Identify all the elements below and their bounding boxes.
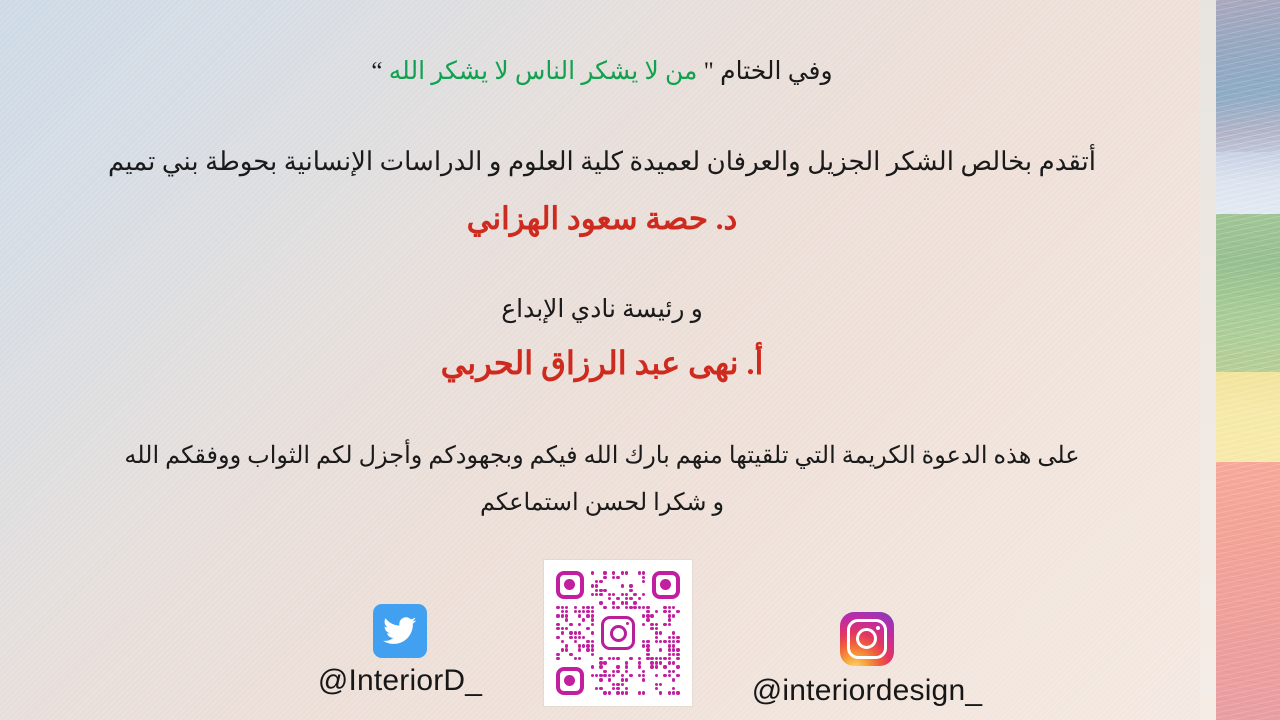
qr-module (603, 576, 606, 579)
qr-module (625, 601, 628, 604)
qr-module (574, 631, 577, 634)
qr-module (561, 627, 564, 630)
qr-module (676, 653, 679, 656)
qr-module (668, 657, 671, 660)
qr-module (608, 678, 611, 681)
qr-module (595, 687, 598, 690)
qr-module (676, 610, 679, 613)
qr-module (642, 640, 645, 643)
dean-name: د. حصة سعود الهزاني (0, 198, 1204, 240)
qr-module (556, 623, 559, 626)
qr-module (663, 623, 666, 626)
qr-module (591, 571, 594, 574)
qr-module (655, 687, 658, 690)
qr-module (659, 691, 662, 694)
qr-module (621, 678, 624, 681)
instagram-flash-dot (626, 622, 629, 625)
qr-module (642, 576, 645, 579)
qr-module (642, 670, 645, 673)
qr-module (565, 648, 568, 651)
qr-module (578, 636, 581, 639)
paint-streaks (1216, 152, 1280, 218)
strip-band-green (1216, 214, 1280, 376)
instagram-camera-icon[interactable] (840, 612, 894, 666)
qr-module (603, 606, 606, 609)
instagram-flash-dot (876, 626, 880, 630)
qr-module (676, 648, 679, 651)
qr-module (574, 657, 577, 660)
qr-module (633, 593, 636, 596)
qr-module (625, 691, 628, 694)
qr-module (608, 691, 611, 694)
qr-module (621, 674, 624, 677)
qr-module (612, 571, 615, 574)
qr-module (569, 623, 572, 626)
qr-module (591, 610, 594, 613)
qr-module (616, 691, 619, 694)
qr-module (672, 636, 675, 639)
qr-module (591, 593, 594, 596)
qr-module (663, 610, 666, 613)
qr-module (595, 580, 598, 583)
qr-module (561, 631, 564, 634)
qr-module (638, 657, 641, 660)
qr-module (676, 636, 679, 639)
qr-module (582, 610, 585, 613)
qr-module (586, 627, 589, 630)
qr-module (642, 644, 645, 647)
qr-module (655, 661, 658, 664)
qr-finder-top-right (652, 571, 680, 599)
qr-module (625, 606, 628, 609)
qr-module (603, 670, 606, 673)
qr-module (650, 665, 653, 668)
qr-module (574, 610, 577, 613)
qr-module (668, 606, 671, 609)
qr-module (595, 674, 598, 677)
qr-module (578, 631, 581, 634)
qr-module (642, 691, 645, 694)
qr-module (591, 623, 594, 626)
qr-module (638, 674, 641, 677)
qr-module (569, 653, 572, 656)
qr-module (655, 636, 658, 639)
qr-module (638, 571, 641, 574)
instagram-outline (847, 619, 887, 659)
qr-module (591, 618, 594, 621)
qr-module (642, 571, 645, 574)
qr-module (668, 610, 671, 613)
qr-module (646, 614, 649, 617)
qr-module (650, 657, 653, 660)
qr-module (586, 614, 589, 617)
qr-module (646, 653, 649, 656)
qr-module (659, 683, 662, 686)
qr-module (608, 597, 611, 600)
qr-module (591, 674, 594, 677)
qr-module (616, 670, 619, 673)
twitter-link[interactable]: @InteriorD_ (300, 604, 500, 698)
qr-module (556, 627, 559, 630)
qr-module (655, 610, 658, 613)
qr-module (650, 623, 653, 626)
qr-module (608, 674, 611, 677)
qr-module (591, 631, 594, 634)
qr-module (642, 623, 645, 626)
qr-module (672, 678, 675, 681)
qr-module (646, 610, 649, 613)
qr-module (672, 614, 675, 617)
qr-module (650, 614, 653, 617)
closing-suffix-text: “ (371, 58, 388, 85)
qr-module (565, 614, 568, 617)
qr-module (591, 584, 594, 587)
qr-module (599, 687, 602, 690)
qr-module (582, 644, 585, 647)
strip-band-red (1216, 462, 1280, 720)
qr-module (663, 665, 666, 668)
qr-module (655, 683, 658, 686)
qr-module (612, 670, 615, 673)
qr-module (638, 597, 641, 600)
qr-module (646, 648, 649, 651)
qr-module (625, 661, 628, 664)
qr-module (561, 606, 564, 609)
qr-module (586, 606, 589, 609)
qr-finder-top-left (556, 571, 584, 599)
qr-module (612, 606, 615, 609)
qr-module (642, 678, 645, 681)
qr-module (638, 665, 641, 668)
qr-module (676, 691, 679, 694)
strip-band-yellow (1216, 372, 1280, 466)
qr-module (676, 665, 679, 668)
paint-streaks (1216, 0, 1280, 160)
qr-module (672, 687, 675, 690)
qr-module (663, 606, 666, 609)
qr-module (569, 636, 572, 639)
qr-module (591, 606, 594, 609)
qr-module (612, 683, 615, 686)
qr-module (595, 593, 598, 596)
qr-module (655, 640, 658, 643)
qr-module (599, 589, 602, 592)
qr-module (565, 610, 568, 613)
qr-module (655, 674, 658, 677)
qr-module (612, 593, 615, 596)
qr-module (650, 661, 653, 664)
qr-finder-bottom-left (556, 667, 584, 695)
qr-module (565, 627, 568, 630)
presentation-slide: وفي الختام " من لا يشكر الناس لا يشكر ال… (0, 0, 1280, 720)
thanks-for-listening-line: و شكرا لحسن استماعكم (0, 487, 1204, 519)
qr-module (629, 674, 632, 677)
qr-module (603, 589, 606, 592)
qr-module (668, 691, 671, 694)
qr-module (655, 665, 658, 668)
qr-module (586, 640, 589, 643)
qr-module (616, 657, 619, 660)
qr-module (638, 606, 641, 609)
qr-module (612, 657, 615, 660)
qr-module (629, 589, 632, 592)
qr-module (591, 653, 594, 656)
qr-module (565, 618, 568, 621)
qr-module (625, 597, 628, 600)
qr-module (578, 623, 581, 626)
qr-module (616, 576, 619, 579)
qr-module (591, 665, 594, 668)
qr-module (621, 691, 624, 694)
qr-module (668, 644, 671, 647)
qr-module (599, 678, 602, 681)
qr-module (616, 683, 619, 686)
decorative-color-strip (1216, 0, 1280, 720)
qr-module (556, 653, 559, 656)
qr-module (569, 631, 572, 634)
qr-module (668, 670, 671, 673)
qr-module (612, 687, 615, 690)
gratitude-line: أتقدم بخالص الشكر الجزيل والعرفان لعميدة… (30, 144, 1174, 179)
qr-module (633, 606, 636, 609)
qr-module (603, 661, 606, 664)
qr-module (625, 670, 628, 673)
qr-module (586, 648, 589, 651)
qr-module (650, 627, 653, 630)
qr-module (586, 610, 589, 613)
qr-module (616, 606, 619, 609)
club-role-line: و رئيسة نادي الإبداع (0, 293, 1204, 327)
qr-module (599, 601, 602, 604)
qr-module (561, 640, 564, 643)
qr-module (672, 648, 675, 651)
instagram-camera-icon (601, 616, 635, 650)
qr-module (663, 657, 666, 660)
qr-module (621, 584, 624, 587)
qr-module (608, 593, 611, 596)
qr-module (642, 614, 645, 617)
qr-module (621, 601, 624, 604)
qr-module (603, 691, 606, 694)
qr-module (556, 614, 559, 617)
qr-module (668, 674, 671, 677)
qr-module (612, 576, 615, 579)
invitation-body-line: على هذه الدعوة الكريمة التي تلقيتها منهم… (30, 440, 1174, 472)
qr-module (629, 606, 632, 609)
qr-module (565, 606, 568, 609)
qr-module (616, 597, 619, 600)
qr-module (638, 661, 641, 664)
qr-module (565, 644, 568, 647)
qr-module (668, 653, 671, 656)
qr-module (633, 601, 636, 604)
qr-module (608, 657, 611, 660)
qr-module (582, 606, 585, 609)
qr-module (591, 640, 594, 643)
qr-module (642, 580, 645, 583)
qr-module (659, 640, 662, 643)
qr-module (574, 640, 577, 643)
qr-module (556, 636, 559, 639)
qr-module (672, 670, 675, 673)
qr-module (625, 593, 628, 596)
qr-module (655, 657, 658, 660)
qr-module (672, 653, 675, 656)
qr-module (646, 644, 649, 647)
qr-module (625, 678, 628, 681)
qr-module (668, 636, 671, 639)
qr-code-matrix[interactable] (556, 571, 680, 695)
qr-module (629, 584, 632, 587)
qr-module (668, 661, 671, 664)
qr-module (574, 636, 577, 639)
qr-module (676, 674, 679, 677)
qr-module (672, 606, 675, 609)
qr-module (668, 648, 671, 651)
qr-module (599, 661, 602, 664)
qr-module (625, 571, 628, 574)
qr-module (672, 640, 675, 643)
qr-module (591, 614, 594, 617)
qr-module (672, 631, 675, 634)
qr-module (642, 606, 645, 609)
qr-module (642, 674, 645, 677)
qr-module (642, 593, 645, 596)
qr-module (676, 640, 679, 643)
qr-module (638, 691, 641, 694)
qr-module (591, 648, 594, 651)
qr-module (659, 648, 662, 651)
qr-module (668, 623, 671, 626)
qr-module (646, 618, 649, 621)
closing-quote-line: وفي الختام " من لا يشكر الناس لا يشكر ال… (0, 55, 1204, 89)
qr-module (616, 665, 619, 668)
qr-module (599, 674, 602, 677)
club-head-name: أ. نهى عبد الرزاق الحربي (0, 342, 1204, 385)
qr-module (676, 657, 679, 660)
qr-module (668, 614, 671, 617)
paint-streaks (1216, 214, 1280, 376)
qr-module (595, 584, 598, 587)
qr-module (612, 674, 615, 677)
qr-module (621, 571, 624, 574)
qr-module (599, 657, 602, 660)
qr-module (586, 644, 589, 647)
instagram-lens (856, 628, 877, 649)
qr-module (629, 657, 632, 660)
qr-module (578, 610, 581, 613)
qr-module (561, 648, 564, 651)
qr-module (668, 640, 671, 643)
paint-streaks (1216, 372, 1280, 466)
qr-module (663, 674, 666, 677)
qr-module (578, 648, 581, 651)
qr-module (655, 627, 658, 630)
qr-module (672, 661, 675, 664)
strip-band-sky-blue (1216, 152, 1280, 218)
qr-module (578, 614, 581, 617)
qr-module (659, 661, 662, 664)
qr-module (668, 618, 671, 621)
qr-module (556, 606, 559, 609)
twitter-handle[interactable]: @InteriorD_ (300, 664, 500, 698)
qr-module (599, 665, 602, 668)
social-links-row: @InteriorD_ (0, 556, 1204, 720)
qr-module (582, 618, 585, 621)
qr-module (659, 657, 662, 660)
instagram-link[interactable]: @interiordesign_ (742, 612, 992, 708)
qr-center-logo (598, 613, 638, 653)
qr-module (612, 601, 615, 604)
strip-band-dark-blue (1216, 0, 1280, 160)
twitter-bird-icon[interactable] (373, 604, 427, 658)
qr-module (672, 691, 675, 694)
qr-module (561, 614, 564, 617)
closing-prefix-text: وفي الختام " (697, 58, 832, 85)
qr-module (621, 593, 624, 596)
qr-module (625, 665, 628, 668)
qr-module (591, 644, 594, 647)
qr-module (578, 657, 581, 660)
qr-module (599, 580, 602, 583)
qr-module (616, 687, 619, 690)
qr-module (625, 687, 628, 690)
qr-module (561, 610, 564, 613)
qr-module (582, 636, 585, 639)
qr-module (646, 640, 649, 643)
paint-streaks (1216, 462, 1280, 720)
instagram-handle[interactable]: @interiordesign_ (742, 674, 992, 708)
qr-module (578, 644, 581, 647)
qr-module (659, 631, 662, 634)
qr-module (574, 606, 577, 609)
qr-module (556, 657, 559, 660)
qr-module (646, 606, 649, 609)
qr-module (629, 597, 632, 600)
instagram-lens (610, 625, 627, 642)
qr-module (655, 631, 658, 634)
qr-module (621, 683, 624, 686)
qr-module (663, 640, 666, 643)
qr-module (672, 644, 675, 647)
hadith-quote-text: من لا يشكر الناس لا يشكر الله (389, 58, 698, 85)
qr-module (655, 623, 658, 626)
qr-module (603, 571, 606, 574)
qr-module (603, 674, 606, 677)
qr-code-card[interactable] (544, 560, 692, 706)
qr-module (646, 657, 649, 660)
qr-module (595, 589, 598, 592)
qr-module (599, 593, 602, 596)
